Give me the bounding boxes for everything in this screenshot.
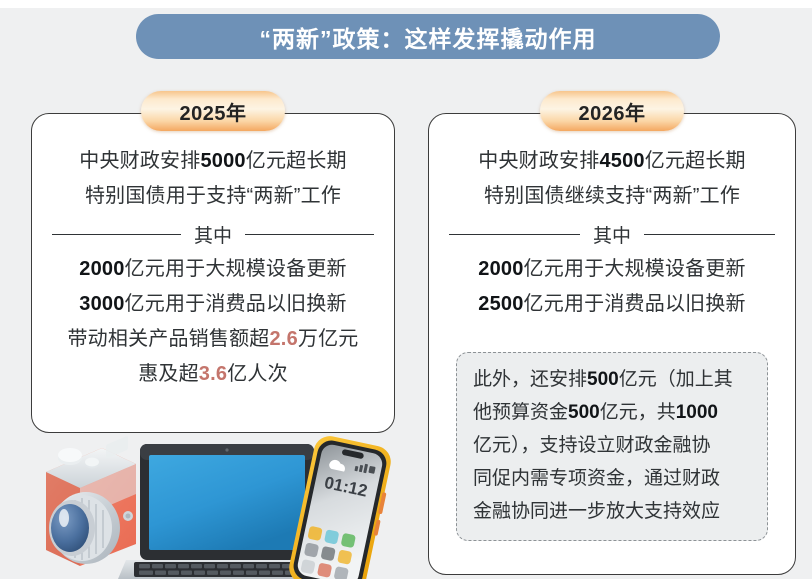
card-2026: 2026年 中央财政安排4500亿元超长期特别国债继续支持“两新”工作 其中 2…	[428, 113, 796, 575]
page-title: “两新”政策：这样发挥撬动作用	[260, 20, 597, 54]
divider-label: 其中	[181, 221, 245, 248]
card-2025-headline-2: 特别国债用于支持“两新”工作	[46, 179, 380, 214]
card-2026-detail-1: 2000亿元用于大规模设备更新	[443, 252, 781, 287]
device-illustration: 01:12	[24, 432, 394, 579]
text-run: 亿元（加上其	[619, 369, 733, 390]
title-banner: “两新”政策：这样发挥撬动作用	[136, 14, 720, 59]
text-run: 500	[587, 369, 619, 390]
divider-rule-right	[644, 234, 775, 235]
note-line-4: 同促内需专项资金，通过财政	[473, 462, 751, 495]
text-run: 5000	[200, 150, 245, 172]
year-badge-2026: 2026年	[540, 91, 684, 131]
top-white-strip	[0, 0, 812, 8]
text-run: 亿元超长期	[246, 150, 347, 172]
card-2025-detail-2: 3000亿元用于消费品以旧换新	[46, 287, 380, 322]
year-badge-2025: 2025年	[141, 91, 285, 131]
card-2025-detail-3: 带动相关产品销售额超2.6万亿元	[46, 322, 380, 357]
text-run: 带动相关产品销售额超	[67, 328, 269, 350]
text-run: 亿元用于消费品以旧换新	[524, 293, 746, 315]
card-2025-headlines: 中央财政安排5000亿元超长期特别国债用于支持“两新”工作	[46, 144, 380, 214]
note-line-1: 此外，还安排500亿元（加上其	[473, 363, 751, 396]
card-2026-headlines: 中央财政安排4500亿元超长期特别国债继续支持“两新”工作	[443, 144, 781, 214]
text-run: 亿元用于大规模设备更新	[125, 258, 347, 280]
year-badge-label: 2026年	[579, 97, 646, 126]
card-2025-divider: 其中	[52, 221, 374, 248]
text-run: 亿元用于消费品以旧换新	[125, 293, 347, 315]
text-run: 中央财政安排	[478, 150, 599, 172]
additional-note-content: 此外，还安排500亿元（加上其他预算资金500亿元，共1000亿元），支持设立财…	[473, 363, 751, 528]
divider-rule-left	[52, 234, 181, 235]
text-run: 3000	[79, 293, 124, 315]
divider-rule-left	[449, 234, 580, 235]
text-run: 2.6	[269, 328, 297, 350]
text-run: 亿元用于大规模设备更新	[524, 258, 746, 280]
text-run: 特别国债继续支持“两新”工作	[484, 185, 740, 207]
text-run: 2000	[478, 258, 523, 280]
text-run: 他预算资金	[473, 402, 568, 423]
text-run: 万亿元	[298, 328, 359, 350]
app-icons	[300, 526, 356, 579]
note-line-2: 他预算资金500亿元，共1000	[473, 396, 751, 429]
card-2026-divider: 其中	[449, 221, 775, 248]
text-run: 此外，还安排	[473, 369, 587, 390]
card-2025-headline-1: 中央财政安排5000亿元超长期	[46, 144, 380, 179]
text-run: 2000	[79, 258, 124, 280]
text-run: 500	[568, 402, 600, 423]
text-run: 1000	[676, 402, 718, 423]
text-run: 2500	[478, 293, 523, 315]
text-run: 金融协同进一步放大支持效应	[473, 501, 720, 522]
card-2025-details: 2000亿元用于大规模设备更新3000亿元用于消费品以旧换新带动相关产品销售额超…	[46, 252, 380, 392]
text-run: 惠及超	[138, 363, 199, 385]
card-2026-body: 中央财政安排4500亿元超长期特别国债继续支持“两新”工作 其中 2000亿元用…	[429, 144, 795, 322]
note-line-5: 金融协同进一步放大支持效应	[473, 495, 751, 528]
text-run: 3.6	[199, 363, 227, 385]
text-run: 中央财政安排	[79, 150, 200, 172]
note-line-3: 亿元），支持设立财政金融协	[473, 429, 751, 462]
card-2026-headline-1: 中央财政安排4500亿元超长期	[443, 144, 781, 179]
card-2025: 2025年 中央财政安排5000亿元超长期特别国债用于支持“两新”工作 其中 2…	[31, 113, 395, 433]
text-run: 亿元），支持设立财政金融协	[473, 435, 711, 456]
card-2026-headline-2: 特别国债继续支持“两新”工作	[443, 179, 781, 214]
divider-rule-right	[245, 234, 374, 235]
camera-icon	[46, 436, 136, 566]
card-2026-details: 2000亿元用于大规模设备更新2500亿元用于消费品以旧换新	[443, 252, 781, 322]
text-run: 同促内需专项资金，通过财政	[473, 468, 720, 489]
card-2025-body: 中央财政安排5000亿元超长期特别国债用于支持“两新”工作 其中 2000亿元用…	[32, 144, 394, 392]
divider-label: 其中	[580, 221, 644, 248]
text-run: 特别国债用于支持“两新”工作	[85, 185, 341, 207]
infographic-page: “两新”政策：这样发挥撬动作用 2025年 中央财政安排5000亿元超长期特别国…	[0, 0, 812, 579]
card-2025-detail-1: 2000亿元用于大规模设备更新	[46, 252, 380, 287]
year-badge-label: 2025年	[180, 97, 247, 126]
additional-note-box: 此外，还安排500亿元（加上其他预算资金500亿元，共1000亿元），支持设立财…	[456, 352, 768, 541]
text-run: 亿人次	[227, 363, 288, 385]
text-run: 4500	[599, 150, 644, 172]
card-2025-detail-4: 惠及超3.6亿人次	[46, 357, 380, 392]
card-2026-detail-2: 2500亿元用于消费品以旧换新	[443, 287, 781, 322]
text-run: 亿元，共	[600, 402, 676, 423]
text-run: 亿元超长期	[645, 150, 746, 172]
